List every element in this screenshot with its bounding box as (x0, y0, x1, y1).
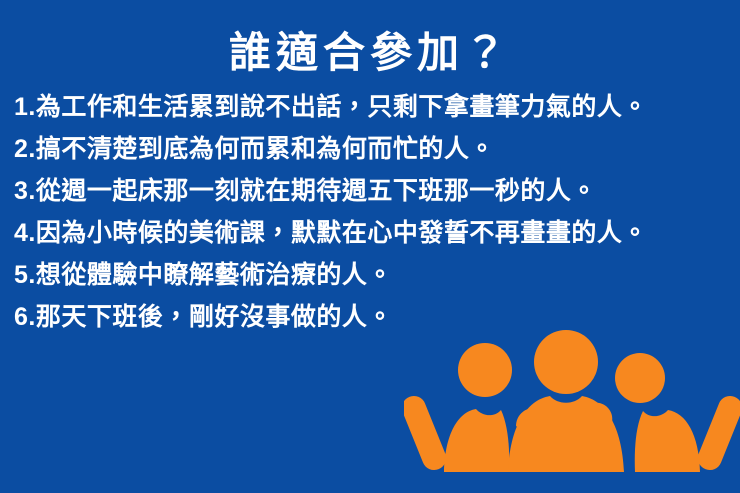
page-title: 誰適合參加？ (0, 28, 740, 78)
list-item-text: 從週一起床那一刻就在期待週五下班那一秒的人。 (36, 177, 597, 205)
list-item: 5.想從體驗中瞭解藝術治療的人。 (14, 254, 726, 296)
poster-canvas: 誰適合參加？ 1.為工作和生活累到說不出話，只剩下拿畫筆力氣的人。 2.搞不清楚… (0, 0, 740, 493)
three-people-group-icon (404, 330, 740, 493)
right-figure-head (615, 353, 665, 403)
list-item-number: 6. (14, 303, 36, 331)
list-item: 1.為工作和生活累到說不出話，只剩下拿畫筆力氣的人。 (14, 86, 726, 128)
list-item-number: 2. (14, 135, 36, 163)
list-item-number: 5. (14, 261, 36, 289)
left-figure-body (444, 409, 509, 472)
list-item: 2.搞不清楚到底為何而累和為何而忙的人。 (14, 128, 726, 170)
left-figure-head (458, 343, 512, 397)
list-item-text: 那天下班後，剛好沒事做的人。 (36, 303, 393, 331)
middle-figure-head (534, 330, 598, 394)
list-item-text: 想從體驗中瞭解藝術治療的人。 (36, 261, 393, 289)
left-figure-arm (404, 392, 450, 473)
list-item: 4.因為小時候的美術課，默默在心中發誓不再畫畫的人。 (14, 212, 726, 254)
qualify-list: 1.為工作和生活累到說不出話，只剩下拿畫筆力氣的人。 2.搞不清楚到底為何而累和… (14, 86, 726, 338)
list-item-number: 1. (14, 93, 36, 121)
list-item: 3.從週一起床那一刻就在期待週五下班那一秒的人。 (14, 170, 726, 212)
right-figure-arm (694, 392, 740, 473)
list-item-number: 3. (14, 177, 36, 205)
list-item-number: 4. (14, 219, 36, 247)
list-item-text: 為工作和生活累到說不出話，只剩下拿畫筆力氣的人。 (36, 93, 648, 121)
right-figure-body (635, 410, 700, 472)
list-item-text: 因為小時候的美術課，默默在心中發誓不再畫畫的人。 (36, 219, 648, 247)
list-item-text: 搞不清楚到底為何而累和為何而忙的人。 (36, 135, 495, 163)
